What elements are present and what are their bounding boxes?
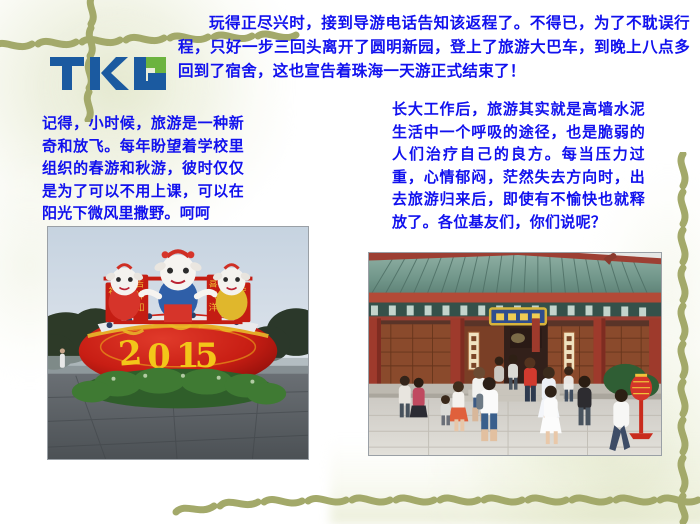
paragraph-top: 玩得正尽兴时，接到导游电话告知该返程了。不得已，为了不耽误行程，只好一步三回头离… (178, 11, 690, 83)
slide-canvas: 玩得正尽兴时，接到导游电话告知该返程了。不得已，为了不耽误行程，只好一步三回头离… (0, 0, 700, 524)
paragraph-right: 长大工作后，旅游其实就是高墙水泥生活中一个呼吸的途径，也是脆弱的人们治疗自己的良… (392, 98, 645, 233)
tkg-logo (48, 51, 170, 95)
photo-new-year-sculpture: 2 0 1 5 福禄 吉祥如 (47, 226, 309, 460)
bamboo-stroke-right-vertical-icon (665, 152, 699, 524)
photo-temple-crowd (368, 252, 662, 456)
svg-text:2: 2 (117, 332, 144, 374)
paragraph-left: 记得，小时候，旅游是一种新奇和放飞。每年盼望着学校里组织的春游和秋游，彼时仅仅是… (42, 112, 244, 225)
bamboo-stroke-bottom-horizontal-icon (172, 492, 700, 524)
